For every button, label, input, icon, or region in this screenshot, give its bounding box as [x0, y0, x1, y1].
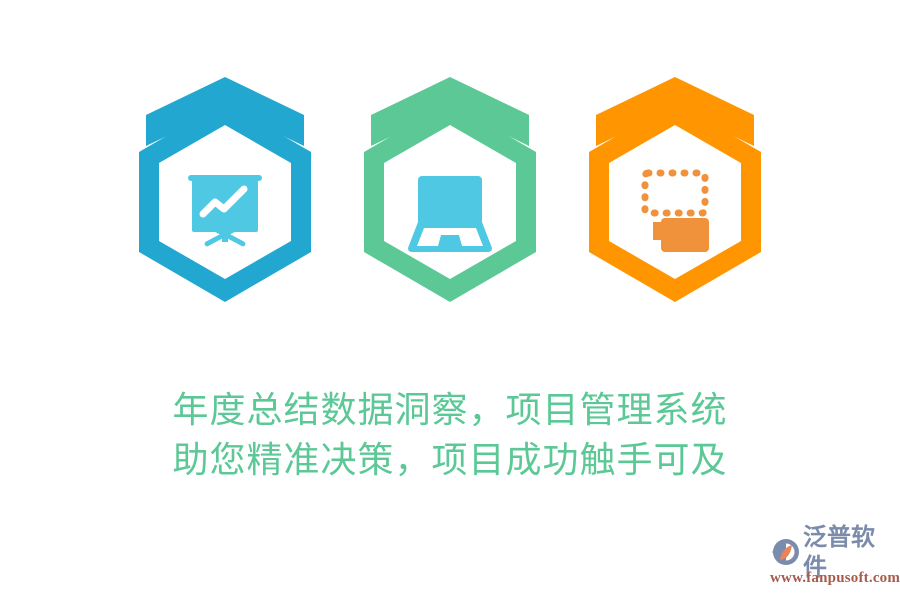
- headline-line-2: 助您精准决策，项目成功触手可及: [0, 436, 900, 486]
- promo-banner: 年度总结数据洞察，项目管理系统 助您精准决策，项目成功触手可及 泛普软件 www…: [0, 0, 900, 600]
- badge-decision-support: [575, 70, 775, 340]
- fanpu-logo-mark-icon: [770, 536, 802, 568]
- brand-logo: 泛普软件 www.fanpusoft.com: [770, 534, 892, 592]
- badge-data-insight: [125, 70, 325, 340]
- logo-top-row: 泛普软件: [770, 534, 892, 570]
- logo-url: www.fanpusoft.com: [770, 569, 892, 587]
- presentation-chart-icon: [188, 175, 262, 247]
- badge-project-system-graphic: [350, 70, 550, 340]
- badge-data-insight-graphic: [125, 70, 325, 340]
- selection-marquee-icon: [645, 173, 709, 252]
- badge-decision-support-graphic: [575, 70, 775, 340]
- headline-line-1: 年度总结数据洞察，项目管理系统: [0, 386, 900, 436]
- badge-row: [0, 70, 900, 340]
- laptop-icon: [408, 176, 492, 252]
- headline: 年度总结数据洞察，项目管理系统 助您精准决策，项目成功触手可及: [0, 386, 900, 486]
- badge-project-system: [350, 70, 550, 340]
